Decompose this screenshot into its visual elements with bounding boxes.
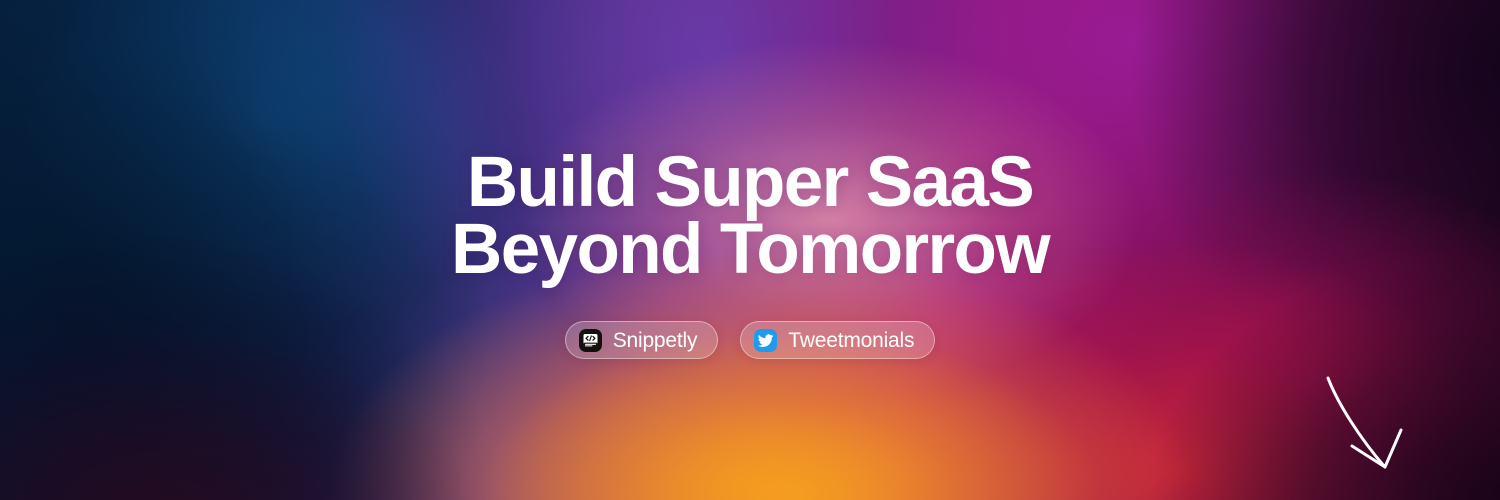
twitter-bird-icon	[754, 329, 777, 352]
hero-banner: Build Super SaaS Beyond Tomorrow Sni	[0, 0, 1500, 500]
page-title: Build Super SaaS Beyond Tomorrow	[451, 150, 1049, 283]
badge-tweetmonials-label: Tweetmonials	[788, 330, 914, 351]
product-badge-list: Snippetly Tweetmonials	[565, 321, 936, 359]
headline-line-1: Build Super SaaS	[451, 150, 1049, 217]
badge-snippetly-label: Snippetly	[613, 330, 698, 351]
snippetly-app-icon	[579, 329, 602, 352]
headline-line-2: Beyond Tomorrow	[451, 217, 1049, 284]
hero-content: Build Super SaaS Beyond Tomorrow Sni	[0, 0, 1500, 500]
badge-tweetmonials[interactable]: Tweetmonials	[740, 321, 935, 359]
badge-snippetly[interactable]: Snippetly	[565, 321, 719, 359]
